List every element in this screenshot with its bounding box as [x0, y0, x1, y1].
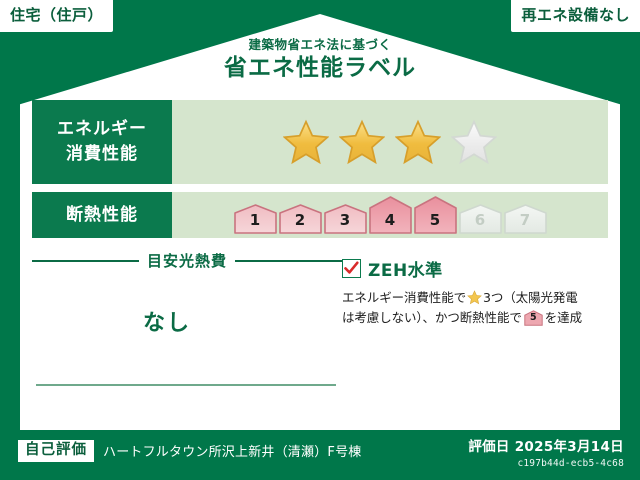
footer-right-group: 評価日 2025年3月14日 c197b44d-ecb5-4c68	[468, 435, 624, 469]
inline-house-value: 5	[524, 310, 543, 325]
zeh-checkbox[interactable]	[342, 259, 361, 278]
label-footer: 自己評価 ハートフルタウン所沢上新井（清瀬）F号棟 評価日 2025年3月14日…	[0, 430, 640, 480]
evaluation-date-value: 2025年3月14日	[515, 439, 624, 455]
insulation-level-chip: 6	[459, 204, 502, 234]
house-icon-inactive	[459, 204, 502, 234]
insulation-level-chip: 4	[369, 196, 412, 234]
estimated-utility-cost-title: 目安光熱費	[147, 250, 227, 271]
label-title-block: 建築物省エネ法に基づく 省エネ性能ラベル	[0, 38, 640, 83]
cost-bottom-divider	[36, 384, 336, 386]
footer-left-group: 自己評価 ハートフルタウン所沢上新井（清瀬）F号棟	[18, 440, 361, 462]
estimated-utility-cost-value: なし	[32, 305, 342, 337]
inline-star-icon	[467, 290, 482, 305]
zeh-desc-part2: は考慮しない）、かつ断熱性能で	[342, 310, 522, 325]
housing-type-tag: 住宅（住戸）	[0, 0, 113, 32]
heading-rule-right	[235, 260, 342, 262]
evaluation-date: 評価日 2025年3月14日	[468, 435, 624, 455]
heading-rule-left	[32, 260, 139, 262]
estimated-utility-cost-block: 目安光熱費 なし	[32, 250, 342, 337]
zeh-desc-part3: を達成	[545, 310, 582, 325]
renewable-energy-tag: 再エネ設備なし	[511, 0, 640, 32]
insulation-performance-row: 断熱性能 1234567	[32, 192, 608, 238]
insulation-level-chip: 7	[504, 204, 547, 234]
zeh-standard-block: ZEH水準 エネルギー消費性能で3つ（太陽光発電 は考慮しない）、かつ断熱性能で…	[342, 256, 614, 329]
house-icon-inactive	[504, 204, 547, 234]
house-icon-active	[414, 196, 457, 234]
energy-performance-label-line1: エネルギー	[57, 117, 147, 142]
insulation-level-chip: 5	[414, 196, 457, 234]
star-filled-icon	[339, 119, 385, 165]
zeh-standard-description: エネルギー消費性能で3つ（太陽光発電 は考慮しない）、かつ断熱性能で5を達成	[342, 288, 614, 329]
energy-performance-row: エネルギー 消費性能	[32, 100, 608, 184]
zeh-desc-star-count: 3つ（太陽光発電	[483, 290, 578, 305]
energy-performance-label-line2: 消費性能	[66, 142, 138, 167]
label-title: 省エネ性能ラベル	[0, 54, 640, 83]
star-empty-icon	[451, 119, 497, 165]
star-filled-icon	[395, 119, 441, 165]
building-name: ハートフルタウン所沢上新井（清瀬）F号棟	[103, 441, 361, 460]
label-content: エネルギー 消費性能 断熱性能 1234567 目安光熱費 なし	[32, 100, 608, 430]
insulation-level-scale: 1234567	[234, 196, 547, 234]
zeh-standard-heading: ZEH水準	[342, 256, 614, 281]
energy-performance-value	[172, 100, 608, 184]
insulation-level-chip: 3	[324, 204, 367, 234]
insulation-level-chip: 2	[279, 204, 322, 234]
energy-performance-label: エネルギー 消費性能	[32, 100, 172, 184]
lower-section: 目安光熱費 なし ZEH水準 エネルギー消費性能で3つ（太陽光発電 は考慮しない…	[32, 250, 608, 430]
house-icon-active	[279, 204, 322, 234]
evaluation-id: c197b44d-ecb5-4c68	[468, 458, 624, 469]
house-icon-active	[369, 196, 412, 234]
house-icon-active	[234, 204, 277, 234]
house-icon-active	[324, 204, 367, 234]
label-subtitle: 建築物省エネ法に基づく	[0, 38, 640, 52]
self-evaluation-badge: 自己評価	[18, 440, 94, 462]
zeh-standard-title: ZEH水準	[368, 256, 443, 281]
insulation-performance-value: 1234567	[172, 192, 608, 238]
star-filled-icon	[283, 119, 329, 165]
estimated-utility-cost-heading: 目安光熱費	[32, 250, 342, 271]
evaluation-date-label: 評価日	[468, 439, 509, 455]
star-rating	[283, 119, 497, 165]
insulation-level-chip: 1	[234, 204, 277, 234]
inline-house-icon: 5	[524, 310, 543, 326]
zeh-desc-part1: エネルギー消費性能で	[342, 290, 466, 305]
insulation-performance-label: 断熱性能	[32, 192, 172, 238]
